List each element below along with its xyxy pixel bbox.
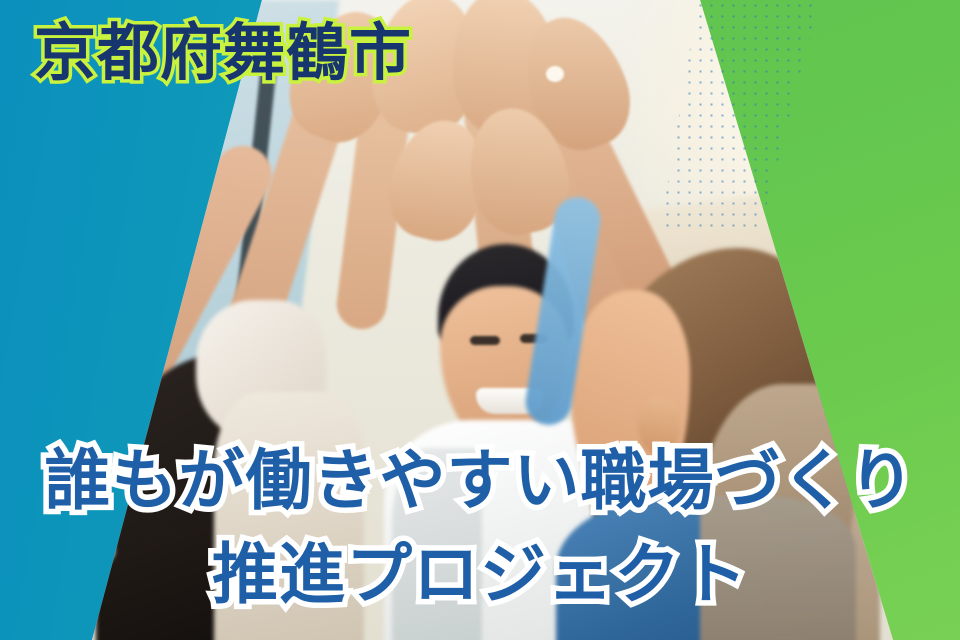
kicker-city-name: 京都府舞鶴市 <box>34 18 412 87</box>
headline-line-1: 誰もが働きやすい職場づくり <box>0 434 960 528</box>
promo-banner: 京都府舞鶴市 誰もが働きやすい職場づくり 推進プロジェクト <box>0 0 960 640</box>
headline-line-2: 推進プロジェクト <box>0 528 960 622</box>
hand-ring <box>546 66 564 82</box>
headline: 誰もが働きやすい職場づくり 推進プロジェクト <box>0 434 960 621</box>
man-eye-left <box>470 336 500 345</box>
